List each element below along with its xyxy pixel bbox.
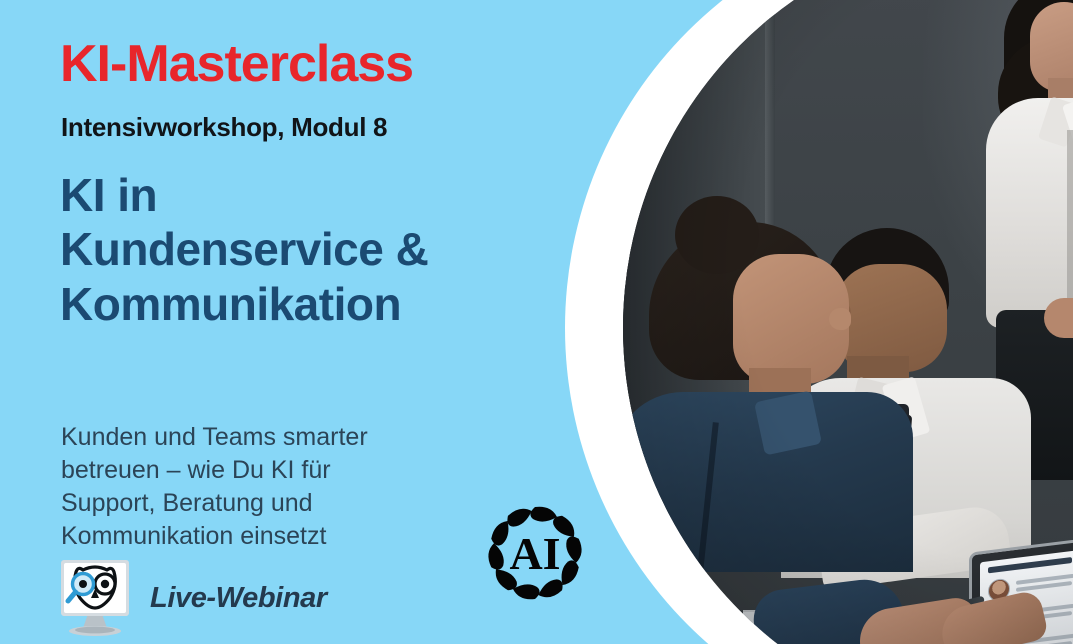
live-webinar-badge: Live-Webinar: [52, 556, 327, 640]
subkicker-text: Intensivworkshop, Modul 8: [61, 114, 387, 140]
ai-aperture-emblem-icon: AI: [477, 499, 593, 607]
kicker-title: KI-Masterclass: [60, 38, 413, 90]
headline-line-2: Kundenservice &: [60, 222, 530, 276]
description-line-1: Kunden und Teams smarter: [61, 421, 471, 454]
live-webinar-label: Live-Webinar: [150, 582, 327, 615]
description-line-4: Kommunikation einsetzt: [61, 520, 471, 553]
headline-line-1: KI in: [60, 168, 530, 222]
description-text: Kunden und Teams smarter betreuen – wie …: [61, 421, 471, 553]
owl-on-monitor-icon: [52, 556, 138, 640]
headline-line-3: Kommunikation: [60, 277, 530, 331]
office-scene: [623, 0, 1073, 644]
office-team-photo: [623, 0, 1073, 644]
description-line-2: betreuen – wie Du KI für: [61, 454, 471, 487]
webinar-promo-banner: KI-Masterclass Intensivworkshop, Modul 8…: [0, 0, 1073, 644]
svg-text:AI: AI: [509, 528, 560, 579]
page-title: KI in Kundenservice & Kommunikation: [60, 168, 530, 331]
photo-vignette: [623, 0, 1073, 644]
description-line-3: Support, Beratung und: [61, 487, 471, 520]
